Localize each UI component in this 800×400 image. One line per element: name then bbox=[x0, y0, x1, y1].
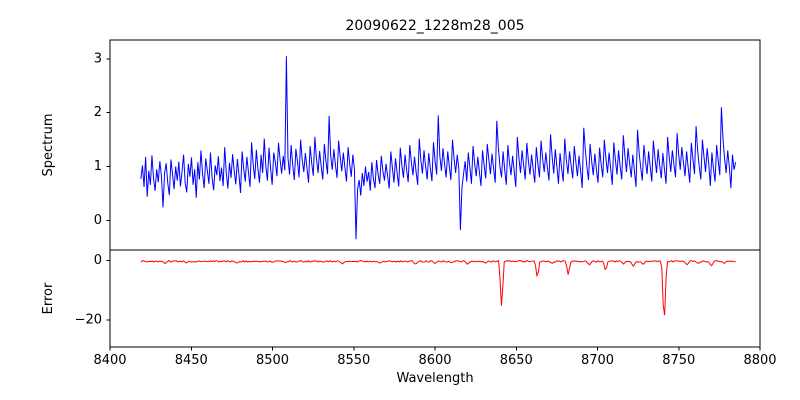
page-title: 20090622_1228m28_005 bbox=[345, 18, 524, 34]
x-axis-label: Wavelength bbox=[396, 371, 473, 386]
plot-canvas: 20090622_1228m28_005 0123 Spectrum 0−20 … bbox=[0, 0, 800, 400]
x-tick-label: 8650 bbox=[500, 353, 533, 368]
y-tick-label: 0 bbox=[94, 213, 102, 228]
y-tick-label: −20 bbox=[75, 313, 102, 328]
x-tick-label: 8750 bbox=[662, 353, 695, 368]
y-tick-label: 1 bbox=[94, 159, 102, 174]
y-tick-label: 0 bbox=[94, 253, 102, 268]
x-tick-label: 8600 bbox=[418, 353, 451, 368]
x-tick-label: 8700 bbox=[581, 353, 614, 368]
x-tick-label: 8450 bbox=[175, 353, 208, 368]
x-tick-label: 8550 bbox=[337, 353, 370, 368]
matplotlib-figure: 20090622_1228m28_005 0123 Spectrum 0−20 … bbox=[0, 0, 800, 400]
spectrum-y-axis-label: Spectrum bbox=[41, 114, 56, 177]
x-tick-label: 8500 bbox=[256, 353, 289, 368]
x-tick-label: 8800 bbox=[743, 353, 776, 368]
y-tick-label: 2 bbox=[94, 105, 102, 120]
x-tick-label: 8400 bbox=[93, 353, 126, 368]
figure-background bbox=[0, 0, 800, 400]
y-tick-label: 3 bbox=[94, 51, 102, 66]
error-y-axis-label: Error bbox=[41, 282, 56, 314]
